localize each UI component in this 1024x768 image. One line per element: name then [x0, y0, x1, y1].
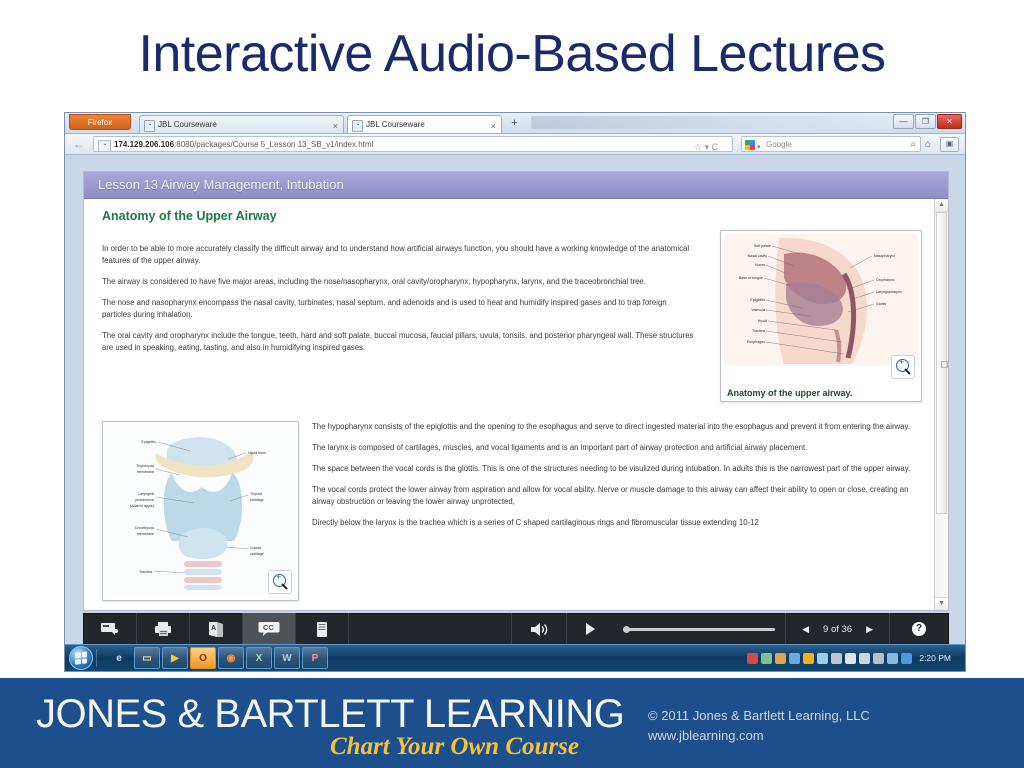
- svg-text:Nasal cavity: Nasal cavity: [748, 254, 768, 258]
- home-icon[interactable]: ⌂: [925, 139, 931, 150]
- svg-text:CC: CC: [263, 623, 274, 632]
- volume-icon: [529, 622, 549, 637]
- scrollbar-thumb[interactable]: [936, 212, 947, 514]
- chevron-down-icon[interactable]: ▾: [757, 140, 761, 155]
- transcript-button[interactable]: [296, 613, 349, 645]
- print-button[interactable]: [137, 613, 190, 645]
- svg-text:Thyrohyoid: Thyrohyoid: [136, 464, 154, 468]
- closed-caption-button[interactable]: CC: [243, 613, 296, 645]
- paragraph: Directly below the larynx is the trachea…: [312, 517, 912, 529]
- magnifier-plus-icon[interactable]: [891, 355, 915, 379]
- play-icon: [584, 622, 596, 636]
- tray-icon-3[interactable]: [775, 653, 786, 664]
- taskbar-clock[interactable]: 2:20 PM: [915, 653, 959, 663]
- tray-volume-icon[interactable]: [873, 653, 884, 664]
- help-icon: ?: [912, 622, 926, 636]
- tray-icon-8[interactable]: [845, 653, 856, 664]
- svg-text:Cricothyroid: Cricothyroid: [135, 526, 154, 530]
- tray-network-icon[interactable]: [887, 653, 898, 664]
- figure-larynx-image: Epiglottis Thyrohyoidmembrane Laryngealp…: [106, 425, 295, 600]
- figure-larynx[interactable]: Epiglottis Thyrohyoidmembrane Laryngealp…: [102, 421, 299, 601]
- firefox-menu-label: Firefox: [88, 118, 112, 127]
- copyright-text: © 2011 Jones & Bartlett Learning, LLC: [648, 708, 870, 723]
- start-button[interactable]: [69, 646, 93, 670]
- page-indicator: 9 of 36: [823, 624, 852, 635]
- volume-button[interactable]: [512, 613, 566, 645]
- search-engine-label: Google: [766, 140, 792, 149]
- bookmark-star-icon[interactable]: ☆: [694, 142, 702, 152]
- section-title: Anatomy of the Upper Airway: [84, 199, 948, 223]
- browser-tab-1[interactable]: ◔ JBL Courseware ×: [139, 115, 344, 133]
- excel-icon[interactable]: X: [246, 647, 272, 669]
- figure-upper-airway-image: Soft palate Nasal cavity Nares Base of t…: [724, 234, 918, 371]
- close-button[interactable]: ✕: [937, 114, 962, 129]
- closed-caption-icon: CC: [258, 621, 280, 637]
- explorer-folder-icon[interactable]: ▭: [134, 647, 160, 669]
- svg-text:Epiglottis: Epiglottis: [141, 440, 156, 444]
- firefox-menu-button[interactable]: Firefox: [69, 114, 131, 130]
- svg-text:Hyoid bone: Hyoid bone: [248, 451, 266, 455]
- tray-shield-icon[interactable]: [901, 653, 912, 664]
- url-path: :8080/packages/Course 5_Lesson 13_SB_v1/…: [174, 140, 373, 149]
- address-bar-icons: ☆ ▾ C: [694, 140, 718, 152]
- svg-text:Nasopharynx: Nasopharynx: [874, 254, 895, 258]
- window-controls: — ❐ ✕: [893, 114, 962, 129]
- svg-text:Valecula: Valecula: [751, 308, 765, 312]
- tray-icon-5[interactable]: [803, 653, 814, 664]
- transcript-icon: [314, 621, 330, 638]
- tab-close-icon[interactable]: ×: [491, 118, 496, 135]
- paragraph: The hypopharynx consists of the epiglott…: [312, 421, 912, 433]
- tray-icon-7[interactable]: [831, 653, 842, 664]
- next-page-button[interactable]: ▶: [866, 624, 873, 635]
- tray-icon-6[interactable]: [817, 653, 828, 664]
- paragraph: The oral cavity and oropharynx include t…: [102, 330, 694, 354]
- taskbar-divider: [96, 649, 97, 667]
- magnifier-plus-icon[interactable]: [268, 570, 292, 594]
- tray-icon-4[interactable]: [789, 653, 800, 664]
- brand-tagline: Chart Your Own Course: [330, 733, 579, 761]
- internet-explorer-icon[interactable]: e: [106, 647, 132, 669]
- site-identity-icon[interactable]: ◔: [98, 140, 111, 152]
- content-scrollbar[interactable]: ▲ ▼: [934, 199, 948, 610]
- paragraph: The space between the vocal cords is the…: [312, 463, 912, 475]
- minimize-button[interactable]: —: [893, 114, 914, 129]
- svg-text:Laryngopharynx: Laryngopharynx: [876, 290, 902, 294]
- brand-name: JONES & BARTLETT LEARNING: [36, 692, 624, 737]
- scroll-up-arrow[interactable]: ▲: [935, 199, 948, 212]
- browser-tab-bar: Firefox ◔ JBL Courseware × ◔ JBL Coursew…: [65, 113, 965, 134]
- svg-text:Trachea: Trachea: [752, 329, 765, 333]
- tab-close-icon[interactable]: ×: [333, 118, 338, 135]
- powerpoint-icon[interactable]: P: [302, 647, 328, 669]
- page-title: Interactive Audio-Based Lectures: [0, 24, 1024, 84]
- top-text-column: In order to be able to more accurately c…: [102, 243, 694, 363]
- svg-text:Nares: Nares: [755, 263, 765, 267]
- lesson-header: Lesson 13 Airway Management, Intubation: [84, 172, 948, 199]
- page-navigation: ◀ 9 of 36 ▶: [786, 624, 889, 635]
- player-toolbar: A CC: [83, 613, 949, 645]
- tools-icon[interactable]: ▣: [940, 137, 959, 152]
- website-url: www.jblearning.com: [648, 728, 764, 743]
- seek-slider[interactable]: [613, 628, 785, 631]
- seek-track[interactable]: [623, 628, 775, 631]
- word-icon[interactable]: W: [274, 647, 300, 669]
- browser-tab-1-label: JBL Courseware: [158, 120, 217, 129]
- windows-taskbar: e ▭ ▶ O ◉ X W P 2:20 PM: [65, 644, 965, 671]
- figure-upper-airway[interactable]: Soft palate Nasal cavity Nares Base of t…: [720, 230, 922, 402]
- reload-icon[interactable]: C: [712, 142, 719, 152]
- address-bar[interactable]: ◔ 174.129.206.106:8080/packages/Course 5…: [93, 136, 733, 152]
- svg-text:cartilage: cartilage: [250, 498, 264, 502]
- previous-page-button[interactable]: ◀: [802, 624, 809, 635]
- svg-text:(Adam's apple): (Adam's apple): [130, 504, 154, 508]
- nav-right-icons: ⌕ ⌂ ▣: [910, 137, 959, 152]
- svg-text:A: A: [211, 625, 216, 632]
- svg-text:Hyoid: Hyoid: [758, 319, 767, 323]
- svg-text:cartilage: cartilage: [250, 552, 264, 556]
- firefox-icon[interactable]: ◉: [218, 647, 244, 669]
- tray-icon-1[interactable]: [747, 653, 758, 664]
- notes-icon: [100, 621, 120, 637]
- restore-button[interactable]: ❐: [915, 114, 936, 129]
- glossary-button[interactable]: A: [190, 613, 243, 645]
- scrollbar-grip-icon: [941, 361, 948, 368]
- svg-text:Laryngeal: Laryngeal: [138, 492, 154, 496]
- svg-text:Epiglottis: Epiglottis: [750, 298, 765, 302]
- outlook-icon[interactable]: O: [190, 647, 216, 669]
- svg-text:Oropharynx: Oropharynx: [876, 278, 895, 282]
- svg-text:Base of tongue: Base of tongue: [739, 276, 763, 280]
- scroll-down-arrow[interactable]: ▼: [935, 597, 948, 610]
- tray-icon-2[interactable]: [761, 653, 772, 664]
- paragraph: The airway is considered to have five ma…: [102, 276, 694, 288]
- search-icon[interactable]: ⌕: [910, 139, 916, 150]
- help-button[interactable]: ?: [890, 622, 948, 636]
- seek-knob[interactable]: [623, 626, 630, 633]
- paragraph: The larynx is composed of cartilages, mu…: [312, 442, 912, 454]
- svg-text:prominence: prominence: [135, 498, 154, 502]
- notes-button[interactable]: [84, 613, 137, 645]
- tray-flag-icon[interactable]: [859, 653, 870, 664]
- windows-logo-icon: [75, 651, 87, 664]
- paragraph: The vocal cords protect the lower airway…: [312, 484, 912, 508]
- browser-tab-2[interactable]: ◔ JBL Courseware ×: [347, 115, 502, 133]
- svg-text:Trachea: Trachea: [139, 570, 152, 574]
- tab-favicon-icon: ◔: [144, 120, 155, 132]
- chevron-down-icon[interactable]: ▾: [705, 142, 710, 152]
- svg-text:Glottis: Glottis: [876, 302, 886, 306]
- svg-text:membrane: membrane: [137, 470, 154, 474]
- back-arrow-icon[interactable]: ←: [73, 138, 85, 150]
- footer-banner: JONES & BARTLETT LEARNING Chart Your Own…: [0, 678, 1024, 768]
- media-player-icon[interactable]: ▶: [162, 647, 188, 669]
- paragraph: In order to be able to more accurately c…: [102, 243, 694, 267]
- svg-text:membrane: membrane: [137, 532, 154, 536]
- google-logo-icon: [745, 140, 755, 150]
- lesson-scroll-area[interactable]: Anatomy of the Upper Airway In order to …: [84, 199, 948, 610]
- svg-text:Cricoid: Cricoid: [250, 546, 261, 550]
- course-content-area: Lesson 13 Airway Management, Intubation …: [83, 171, 949, 611]
- figure-upper-airway-caption: Anatomy of the upper airway.: [727, 388, 852, 398]
- svg-text:Esophagus: Esophagus: [747, 340, 765, 344]
- new-tab-button[interactable]: +: [507, 116, 522, 132]
- play-button[interactable]: [567, 613, 613, 645]
- search-input[interactable]: ▾ Google: [741, 136, 921, 152]
- glossary-icon: A: [207, 621, 225, 638]
- paragraph: The nose and nasopharynx encompass the n…: [102, 297, 694, 321]
- window-title-strip: [531, 116, 891, 129]
- bottom-text-column: The hypopharynx consists of the epiglott…: [312, 421, 912, 538]
- tab-favicon-icon: ◔: [352, 120, 363, 132]
- svg-text:Soft palate: Soft palate: [754, 244, 771, 248]
- print-icon: [153, 621, 173, 637]
- browser-nav-bar: ← ◔ 174.129.206.106:8080/packages/Course…: [65, 134, 965, 155]
- browser-tab-2-label: JBL Courseware: [366, 120, 425, 129]
- taskbar-items: e ▭ ▶ O ◉ X W P: [106, 647, 328, 669]
- browser-window: Firefox ◔ JBL Courseware × ◔ JBL Coursew…: [64, 112, 966, 672]
- url-host: 174.129.206.106: [114, 140, 174, 149]
- system-tray: 2:20 PM: [747, 653, 965, 664]
- svg-text:Thyroid: Thyroid: [250, 492, 262, 496]
